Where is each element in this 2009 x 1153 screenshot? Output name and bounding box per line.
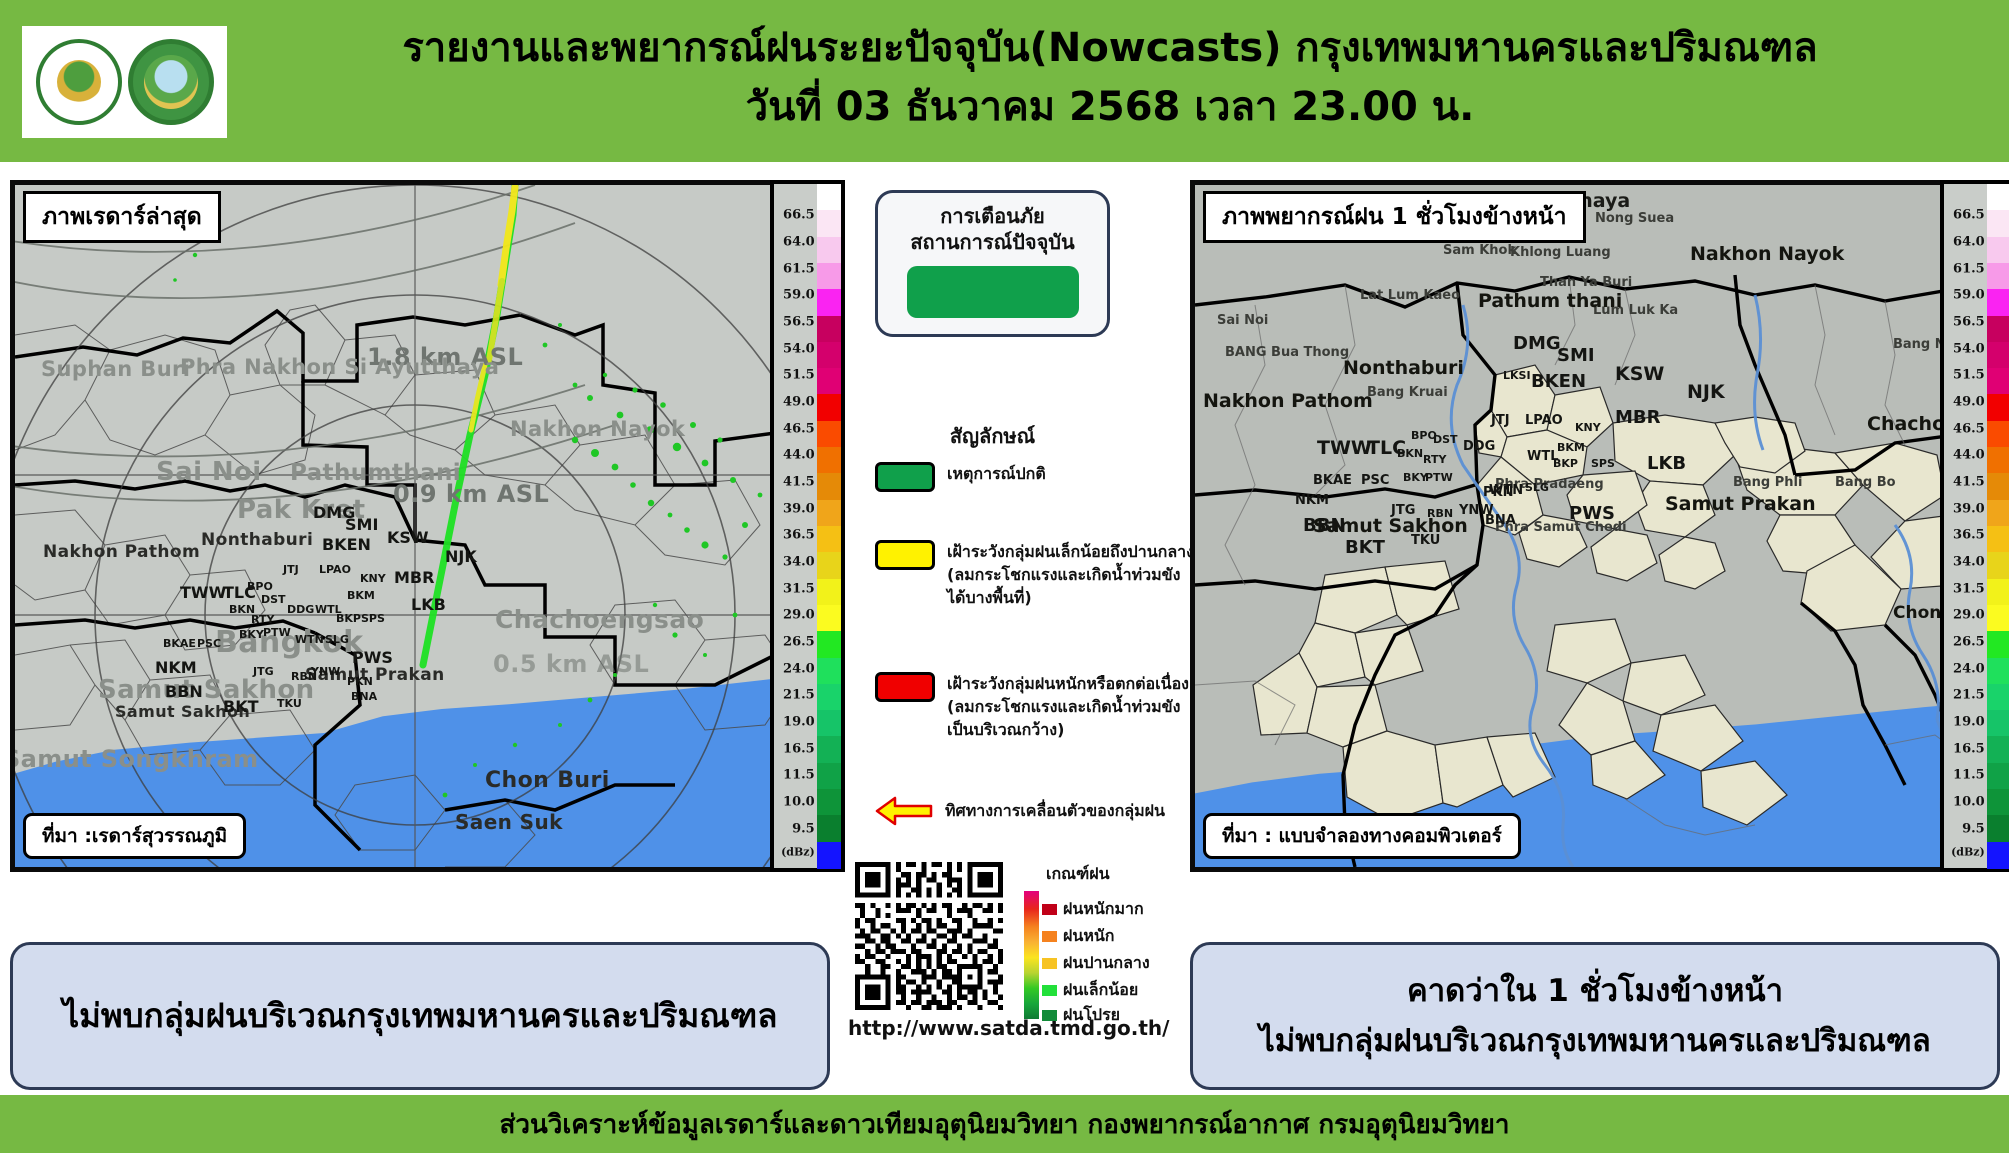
province-label: Lat Lum Kaeo <box>1360 288 1460 303</box>
footer-text: ส่วนวิเคราะห์ข้อมูลเรดาร์และดาวเทียมอุตุ… <box>500 1104 1510 1145</box>
district-code: BPO <box>1411 429 1437 442</box>
district-code: TWW <box>1317 437 1372 459</box>
district-code: TWW <box>180 583 226 602</box>
colorbar-segment <box>1987 526 2009 553</box>
colorbar-tick: 26.5 <box>783 635 815 650</box>
district-code: SPS <box>1591 457 1615 470</box>
district-code: LPAO <box>319 563 351 576</box>
radar-map-canvas: 1.8 km ASL 0.9 km ASL 0.5 km ASL 16 km S… <box>15 185 825 867</box>
title-line-1: รายงานและพยากรณ์ฝนระยะปัจจุบัน(Nowcasts)… <box>250 22 1970 75</box>
district-code: MBR <box>394 568 434 587</box>
colorbar-segment <box>1987 289 2009 316</box>
colorbar-segment <box>817 736 841 763</box>
yellow-swatch-icon <box>875 540 935 570</box>
district-code: SMI <box>1557 345 1595 366</box>
radar-map-source: ที่มา :เรดาร์สุวรรณภูมิ <box>23 813 246 859</box>
province-label: Samut Songkhram <box>10 745 259 773</box>
colorbar-segment <box>817 184 841 211</box>
colorbar-tick: 31.5 <box>783 581 815 596</box>
district-code: MBR <box>1615 407 1661 428</box>
colorbar-segment <box>817 789 841 816</box>
colorbar-segment <box>817 394 841 421</box>
colorbar-segment <box>1987 710 2009 737</box>
colorbar-segment <box>817 368 841 395</box>
district-code: BBN <box>165 682 203 701</box>
province-label: Suphan Buri <box>41 357 190 381</box>
colorbar-tick: 10.0 <box>1953 795 1985 810</box>
warning-status-chip <box>907 266 1079 318</box>
colorbar-tick: 54.0 <box>783 341 815 356</box>
district-code: KNY <box>360 572 386 585</box>
legend-item-light-moderate: เฝ้าระวังกลุ่มฝนเล็กน้อยถึงปานกลาง (ลมกร… <box>875 540 1194 610</box>
colorbar-tick: 49.0 <box>1953 395 1985 410</box>
colorbar-tick: 66.5 <box>783 208 815 223</box>
left-arrow-icon <box>875 795 933 827</box>
district-code: BKT <box>223 697 259 716</box>
district-code: DDG <box>1463 439 1495 454</box>
district-code: RTY <box>1423 453 1446 466</box>
colorbar-tick: 36.5 <box>1953 528 1985 543</box>
rain-swatch-icon <box>1042 1010 1057 1021</box>
colorbar-tick: 49.0 <box>783 395 815 410</box>
province-label: Bang Kruai <box>1367 385 1448 400</box>
rain-intensity-scale: เกณฑ์ฝน ฝนหนักมาก ฝนหนัก ฝนปานกลาง ฝนเล็… <box>1020 862 1190 1019</box>
colorbar-tick: 46.5 <box>1953 421 1985 436</box>
district-code: BKY <box>239 628 264 641</box>
colorbar-tick: 21.5 <box>783 688 815 703</box>
rain-scale-item: ฝนหนักมาก <box>1042 897 1144 922</box>
colorbar-strip <box>1987 184 2009 868</box>
colorbar-segment <box>817 763 841 790</box>
district-code: BKN <box>229 603 255 616</box>
colorbar-segment <box>817 605 841 632</box>
colorbar-segment <box>1987 736 2009 763</box>
district-code: SLG <box>325 633 349 646</box>
colorbar-segment <box>817 237 841 264</box>
district-code: BKM <box>347 589 375 602</box>
colorbar-tick: 56.5 <box>783 315 815 330</box>
province-label: Nakhon Pathom <box>1203 390 1373 412</box>
district-code: BKP <box>1553 457 1578 470</box>
district-code: TKU <box>1411 533 1440 548</box>
legend-header: สัญลักษณ์ <box>875 420 1110 452</box>
district-code: PTW <box>1425 471 1453 484</box>
rain-swatch-icon <box>1042 931 1057 942</box>
colorbar-segment <box>1987 473 2009 500</box>
legend-item-label: เฝ้าระวังกลุ่มฝนเล็กน้อยถึงปานกลาง (ลมกร… <box>947 540 1194 610</box>
district-code: BKT <box>1345 537 1385 558</box>
district-code: BKEN <box>322 535 371 554</box>
colorbar-segment <box>1987 631 2009 658</box>
district-code: JTJ <box>283 563 299 576</box>
colorbar-tick: 51.5 <box>783 368 815 383</box>
colorbar-tick: 29.0 <box>1953 608 1985 623</box>
colorbar-tick: 19.0 <box>1953 715 1985 730</box>
colorbar-segment <box>817 842 841 869</box>
province-label: Phra Nakhon Si Ayutthaya <box>180 355 499 379</box>
colorbar-segment <box>1987 342 2009 369</box>
colorbar-tick: 9.5 <box>1962 821 1985 836</box>
colorbar-tick: 10.0 <box>783 795 815 810</box>
forecast-summary-box: คาดว่าใน 1 ชั่วโมงข้างหน้า ไม่พบกลุ่มฝนบ… <box>1190 942 2000 1090</box>
province-label: Pathum thani <box>1478 290 1622 312</box>
colorbar-tick: 11.5 <box>783 768 815 783</box>
forecast-summary-line-1: คาดว่าใน 1 ชั่วโมงข้างหน้า <box>1407 968 1783 1015</box>
legend-item-label: เฝ้าระวังกลุ่มฝนหนักหรือตกต่อเนื่อง (ลมก… <box>947 672 1189 742</box>
qr-code-icon[interactable] <box>855 862 1003 1010</box>
district-code: DDG <box>287 603 314 616</box>
warning-title-line-2: สถานการณ์ปัจจุบัน <box>910 229 1074 255</box>
colorbar-tick: 39.0 <box>1953 501 1985 516</box>
rain-scale-label: ฝนหนักมาก <box>1063 897 1144 922</box>
colorbar-segment <box>817 500 841 527</box>
rain-scale-item: ฝนปานกลาง <box>1042 951 1150 976</box>
province-label: Sai Noi <box>156 457 262 487</box>
colorbar-segment <box>1987 500 2009 527</box>
colorbar-tick: 59.0 <box>783 288 815 303</box>
district-code: DMG <box>1513 333 1561 354</box>
rain-swatch-icon <box>1042 958 1057 969</box>
colorbar-tick: 56.5 <box>1953 315 1985 330</box>
green-swatch-icon <box>875 462 935 492</box>
province-label: Nakhon Nayok <box>510 417 685 441</box>
rain-scale-item: ฝนโปรย <box>1042 1003 1120 1028</box>
district-code: PKN <box>347 675 373 688</box>
forecast-map-canvas: Suphan Buri Phra Nakhon Si Ayutthaya Non… <box>1195 185 2005 867</box>
colorbar-segment <box>1987 815 2009 842</box>
colorbar-tick: 11.5 <box>1953 768 1985 783</box>
province-label: Bang Phli <box>1733 475 1802 490</box>
colorbar-segment <box>1987 842 2009 869</box>
colorbar-tick: 19.0 <box>783 715 815 730</box>
colorbar-segment <box>1987 552 2009 579</box>
colorbar-tick: 44.0 <box>783 448 815 463</box>
colorbar-segment <box>1987 368 2009 395</box>
colorbar-strip <box>817 184 841 868</box>
forecast-summary-line-2: ไม่พบกลุ่มฝนบริเวณกรุงเทพมหานครและปริมณฑ… <box>1259 1018 1931 1065</box>
colorbar-tick-labels: 66.564.061.559.056.554.051.549.046.544.0… <box>1944 184 1987 868</box>
colorbar-segment <box>1987 789 2009 816</box>
province-label: Pathumthani <box>290 460 461 486</box>
rain-scale-label: ฝนปานกลาง <box>1063 951 1150 976</box>
rain-swatch-icon <box>1042 904 1057 915</box>
province-label: Nonthaburi <box>1343 357 1464 379</box>
colorbar-segment <box>1987 316 2009 343</box>
province-label: Samut Prakan <box>1665 493 1816 515</box>
district-code: KSW <box>1615 363 1664 385</box>
district-code: PWS <box>352 648 393 667</box>
colorbar-segment <box>817 289 841 316</box>
colorbar-tick: 46.5 <box>783 421 815 436</box>
province-label: Nong Suea <box>1595 211 1674 226</box>
colorbar-segment <box>817 579 841 606</box>
forecast-map-source: ที่มา : แบบจำลองทางคอมพิวเตอร์ <box>1203 813 1521 859</box>
forecast-map-panel[interactable]: Suphan Buri Phra Nakhon Si Ayutthaya Non… <box>1190 180 2009 872</box>
province-label: Sai Noi <box>1217 313 1268 328</box>
colorbar-segment <box>817 263 841 290</box>
colorbar-tick: 29.0 <box>783 608 815 623</box>
logo-box <box>22 26 227 138</box>
district-code: BBN <box>1303 515 1346 536</box>
province-label: Than Ya Buri <box>1540 275 1632 290</box>
colorbar-segment <box>1987 263 2009 290</box>
colorbar-segment <box>817 316 841 343</box>
colorbar-tick: 51.5 <box>1953 368 1985 383</box>
district-code: DST <box>261 593 286 606</box>
district-code: BKEN <box>1531 371 1586 392</box>
page-footer: ส่วนวิเคราะห์ข้อมูลเรดาร์และดาวเทียมอุตุ… <box>0 1095 2009 1153</box>
district-code: SLG <box>1525 481 1549 494</box>
province-label: Khlong Luang <box>1510 245 1611 260</box>
colorbar-segment <box>817 658 841 685</box>
rain-scale-title: เกณฑ์ฝน <box>1046 862 1190 887</box>
province-label: Nakhon Pathom <box>43 542 200 562</box>
district-code: LPAO <box>1525 413 1563 428</box>
colorbar-tick: 36.5 <box>783 528 815 543</box>
forecast-map-title: ภาพพยากรณ์ฝน 1 ชั่วโมงข้างหน้า <box>1203 191 1586 243</box>
province-label: Chachoengsao <box>495 605 704 634</box>
rain-scale-label: ฝนโปรย <box>1063 1003 1120 1028</box>
province-label: Bang Bo <box>1835 475 1896 490</box>
colorbar-tick: 31.5 <box>1953 581 1985 596</box>
colorbar-unit: (dBz) <box>781 846 815 859</box>
colorbar-tick: 24.0 <box>1953 661 1985 676</box>
colorbar-segment <box>817 421 841 448</box>
colorbar-segment <box>817 447 841 474</box>
colorbar-unit: (dBz) <box>1951 846 1985 859</box>
colorbar-segment <box>1987 421 2009 448</box>
title-line-2: วันที่ 03 ธันวาคม 2568 เวลา 23.00 น. <box>250 81 1970 134</box>
district-code: BKP <box>336 612 361 625</box>
colorbar-tick: 21.5 <box>1953 688 1985 703</box>
colorbar-tick: 24.0 <box>783 661 815 676</box>
district-code: PKN <box>1483 485 1513 500</box>
colorbar-tick: 59.0 <box>1953 288 1985 303</box>
colorbar-tick: 61.5 <box>1953 261 1985 276</box>
district-code: NKM <box>1295 493 1329 508</box>
page-title: รายงานและพยากรณ์ฝนระยะปัจจุบัน(Nowcasts)… <box>250 22 1970 134</box>
province-label: Sam Khok <box>1443 243 1516 258</box>
province-label: Chon Buri <box>485 768 610 793</box>
colorbar-tick: 34.0 <box>1953 555 1985 570</box>
colorbar-tick: 61.5 <box>783 261 815 276</box>
district-code: BKM <box>1557 441 1585 454</box>
province-label: Nakhon Nayok <box>1690 243 1844 265</box>
radar-map-title: ภาพเรดาร์ล่าสุด <box>23 191 221 243</box>
colorbar-tick: 26.5 <box>1953 635 1985 650</box>
district-code: PSC <box>197 637 221 650</box>
colorbar-segment <box>817 631 841 658</box>
district-code: SMI <box>345 515 378 534</box>
district-code: TKU <box>277 697 302 710</box>
district-code: LKB <box>411 595 446 614</box>
colorbar-segment <box>1987 394 2009 421</box>
colorbar-tick: 9.5 <box>792 821 815 836</box>
radar-colorbar-right: 66.564.061.559.056.554.051.549.046.544.0… <box>1940 180 2009 872</box>
district-code: SPS <box>361 612 385 625</box>
rain-scale-body: ฝนหนักมาก ฝนหนัก ฝนปานกลาง ฝนเล็กน้อย ฝน… <box>1020 891 1190 1019</box>
legend-item-label: ทิศทางการเคลื่อนตัวของกลุ่มฝน <box>945 799 1165 822</box>
district-code: PWS <box>1569 503 1615 524</box>
district-code: TLC <box>1367 437 1406 459</box>
rain-scale-item: ฝนเล็กน้อย <box>1042 978 1138 1003</box>
colorbar-segment <box>1987 605 2009 632</box>
district-code: RBN <box>1427 507 1453 520</box>
colorbar-segment <box>817 526 841 553</box>
colorbar-tick: 41.5 <box>1953 475 1985 490</box>
tmd-seal-dark-green-icon <box>36 39 122 125</box>
legend-item-normal: เหตุการณ์ปกติ <box>875 462 1046 492</box>
legend-item-movement-direction: ทิศทางการเคลื่อนตัวของกลุ่มฝน <box>875 795 1165 827</box>
district-code: TLC <box>223 583 256 602</box>
district-code: LKB <box>1647 453 1686 474</box>
colorbar-segment <box>817 210 841 237</box>
colorbar-tick: 66.5 <box>1953 208 1985 223</box>
district-code: BNA <box>1485 513 1516 528</box>
radar-map-panel[interactable]: 1.8 km ASL 0.9 km ASL 0.5 km ASL 16 km S… <box>10 180 830 872</box>
district-code: LKSI <box>1503 369 1531 382</box>
legend-item-label: เหตุการณ์ปกติ <box>947 462 1046 485</box>
legend-item-heavy: เฝ้าระวังกลุ่มฝนหนักหรือตกต่อเนื่อง (ลมก… <box>875 672 1189 742</box>
colorbar-segment <box>1987 684 2009 711</box>
colorbar-tick: 16.5 <box>1953 741 1985 756</box>
colorbar-tick: 64.0 <box>1953 235 1985 250</box>
colorbar-tick: 39.0 <box>783 501 815 516</box>
colorbar-segment <box>1987 763 2009 790</box>
rain-swatch-icon <box>1042 985 1057 996</box>
district-code: NKM <box>155 658 197 677</box>
colorbar-segment <box>817 473 841 500</box>
colorbar-tick-labels: 66.564.061.559.056.554.051.549.046.544.0… <box>774 184 817 868</box>
current-warning-card: การเตือนภัย สถานการณ์ปัจจุบัน <box>875 190 1110 337</box>
district-code: KNY <box>1575 421 1601 434</box>
province-label: Nonthaburi <box>201 530 313 550</box>
red-swatch-icon <box>875 672 935 702</box>
rain-scale-item: ฝนหนัก <box>1042 924 1114 949</box>
district-code: JTJ <box>1491 413 1510 428</box>
colorbar-tick: 41.5 <box>783 475 815 490</box>
colorbar-segment <box>1987 658 2009 685</box>
district-code: JTG <box>1391 503 1415 518</box>
colorbar-segment <box>817 710 841 737</box>
colorbar-tick: 34.0 <box>783 555 815 570</box>
district-code: BNA <box>351 690 377 703</box>
colorbar-segment <box>817 684 841 711</box>
district-code: YNW <box>311 665 340 678</box>
tmd-seal-meteorological-department-icon <box>128 39 214 125</box>
colorbar-segment <box>1987 237 2009 264</box>
radar-colorbar-left: 66.564.061.559.056.554.051.549.046.544.0… <box>770 180 845 872</box>
province-label: Saen Suk <box>455 810 563 834</box>
district-code: NJK <box>1687 381 1725 403</box>
district-code: NJK <box>445 547 477 566</box>
district-code: KSW <box>387 528 429 547</box>
colorbar-segment <box>1987 579 2009 606</box>
colorbar-segment <box>1987 210 2009 237</box>
district-code: WTN <box>295 633 324 646</box>
asl-label-500: 0.5 km ASL <box>493 650 649 678</box>
warning-title-line-1: การเตือนภัย <box>940 203 1045 229</box>
colorbar-tick: 54.0 <box>1953 341 1985 356</box>
province-label: BANG Bua Thong <box>1225 345 1349 360</box>
colorbar-tick: 44.0 <box>1953 448 1985 463</box>
rain-scale-label: ฝนหนัก <box>1063 924 1114 949</box>
colorbar-segment <box>817 552 841 579</box>
colorbar-segment <box>1987 184 2009 211</box>
district-code: BKAE <box>1313 473 1352 488</box>
district-code: PSC <box>1361 473 1389 488</box>
rain-gradient-bar <box>1024 891 1039 1019</box>
rain-scale-label: ฝนเล็กน้อย <box>1063 978 1138 1003</box>
district-code: BKAE <box>163 637 196 650</box>
page-header: รายงานและพยากรณ์ฝนระยะปัจจุบัน(Nowcasts)… <box>0 0 2009 162</box>
district-code: BKY <box>1403 471 1428 484</box>
colorbar-segment <box>1987 447 2009 474</box>
colorbar-tick: 16.5 <box>783 741 815 756</box>
district-code: PTW <box>263 626 291 639</box>
colorbar-segment <box>817 342 841 369</box>
colorbar-tick: 64.0 <box>783 235 815 250</box>
current-summary-text: ไม่พบกลุ่มฝนบริเวณกรุงเทพมหานครและปริมณฑ… <box>63 991 778 1041</box>
district-code: JTG <box>253 665 274 678</box>
current-summary-box: ไม่พบกลุ่มฝนบริเวณกรุงเทพมหานครและปริมณฑ… <box>10 942 830 1090</box>
nowcast-report-page: รายงานและพยากรณ์ฝนระยะปัจจุบัน(Nowcasts)… <box>0 0 2009 1153</box>
colorbar-segment <box>817 815 841 842</box>
